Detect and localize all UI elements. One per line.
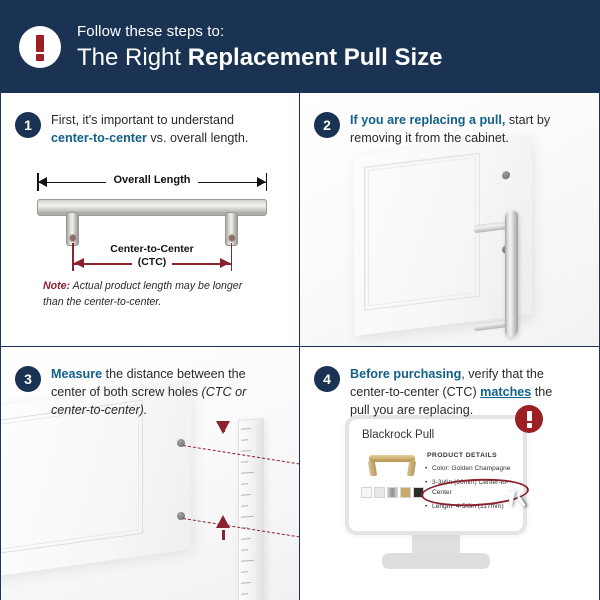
bar-pull-graphic (505, 210, 518, 338)
header-kicker: Follow these steps to: (77, 23, 442, 41)
ruler-graphic (238, 418, 264, 600)
screw-cap-left-icon (69, 234, 77, 242)
overall-length-label: Overall Length (23, 174, 281, 186)
step-2-text: If you are replacing a pull, start by re… (350, 111, 565, 148)
step-3-header: 3 Measure the distance between the cente… (1, 347, 299, 420)
step-1-text: First, it's important to understand cent… (51, 111, 266, 148)
title-bold: Replacement Pull Size (188, 44, 443, 71)
step-3-accent: Measure (51, 367, 102, 381)
matches-link[interactable]: matches (480, 385, 531, 399)
monitor-screen: Blackrock Pull PRODUCT DETAILS (345, 415, 527, 535)
finish-swatches (361, 487, 424, 498)
note-text: Actual product length may be longer than… (43, 280, 242, 308)
infographic-root: Follow these steps to: The Right Replace… (0, 0, 600, 600)
door-inset-inner (368, 157, 476, 306)
swatch-3[interactable] (387, 487, 398, 498)
note-label: Note: (43, 280, 70, 292)
step-4-accent: Before purchasing (350, 367, 461, 381)
step-1-accent: center-to-center (51, 131, 147, 145)
title-light: The Right (77, 44, 188, 71)
pull-stem-bottom (474, 319, 508, 331)
step-panel-4: Blackrock Pull PRODUCT DETAILS (300, 347, 599, 600)
step-panel-3: 3 Measure the distance between the cente… (1, 347, 300, 600)
pull-post-left (66, 212, 79, 246)
pull-measurement-diagram: Overall Length Center-to-Center (CTC) (23, 171, 281, 271)
page-title: The Right Replacement Pull Size (77, 45, 442, 71)
step-number-2: 2 (314, 112, 340, 138)
step-number-4: 4 (314, 366, 340, 392)
step-3-text: Measure the distance between the center … (51, 365, 266, 420)
swatch-4[interactable] (400, 487, 411, 498)
ctc-label-line1: Center-to-Center (23, 243, 281, 256)
swatch-1[interactable] (361, 487, 372, 498)
step-4-header: 4 Before purchasing, verify that the cen… (300, 347, 599, 420)
header-text-block: Follow these steps to: The Right Replace… (77, 23, 442, 71)
screw-hole-top-icon (502, 171, 510, 180)
measure-arrow-down-icon (216, 421, 230, 434)
step-2-accent: If you are replacing a pull, (350, 113, 505, 127)
cabinet-door-graphic (354, 134, 532, 336)
step-number-3: 3 (15, 366, 41, 392)
ctc-label-line2: (CTC) (132, 256, 173, 268)
step-4-text: Before purchasing, verify that the cente… (350, 365, 565, 420)
product-details-heading: PRODUCT DETAILS (427, 452, 497, 459)
product-image (363, 451, 421, 481)
screw-cap-right-icon (228, 234, 236, 242)
step-number-1: 1 (15, 112, 41, 138)
header-banner: Follow these steps to: The Right Replace… (1, 1, 599, 93)
door3-inset-inner (1, 404, 139, 553)
measure-arrow-up-icon (216, 515, 230, 528)
step-panel-2: 2 If you are replacing a pull, start by … (300, 93, 599, 347)
step-1-text-a: First, it's important to understand (51, 113, 234, 127)
product-title: Blackrock Pull (362, 429, 434, 441)
step-panel-1: 1 First, it's important to understand ce… (1, 93, 300, 347)
product-detail-item: Color: Golden Champagne (425, 464, 525, 474)
pull-post-right (225, 212, 238, 246)
monitor-base (382, 553, 490, 569)
swatch-2[interactable] (374, 487, 385, 498)
step-1-text-b: vs. overall length. (147, 131, 249, 145)
step-1-note: Note: Actual product length may be longe… (43, 279, 258, 311)
step-2-header: 2 If you are replacing a pull, start by … (300, 93, 599, 148)
ctc-label: Center-to-Center (CTC) (23, 243, 281, 269)
step-1-header: 1 First, it's important to understand ce… (1, 93, 299, 148)
steps-grid: 1 First, it's important to understand ce… (1, 93, 599, 600)
alert-exclamation-icon (19, 26, 61, 68)
